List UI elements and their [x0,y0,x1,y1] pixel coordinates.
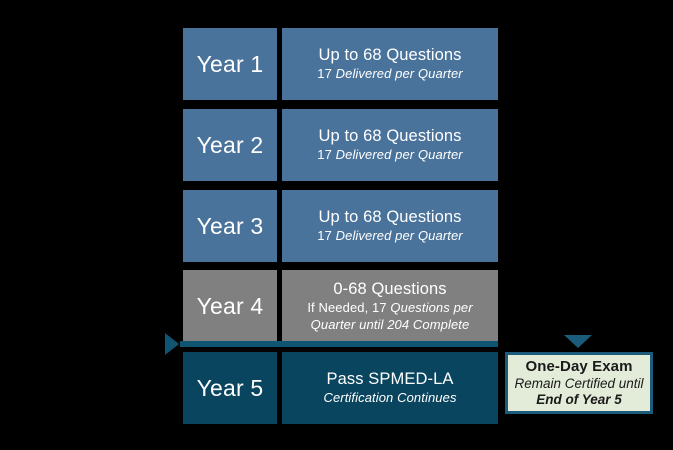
year-detail-sub-line2-4: Quarter until 204 Complete [311,317,470,333]
year-detail-sub-2: 17 Delivered per Quarter [317,147,462,163]
year-detail-sub-3: 17 Delivered per Quarter [317,228,462,244]
year-detail-5: Pass SPMED-LA Certification Continues [282,352,498,424]
year-detail-3: Up to 68 Questions 17 Delivered per Quar… [282,190,498,262]
year-detail-1: Up to 68 Questions 17 Delivered per Quar… [282,28,498,100]
year-detail-sub-italic-4: Questions per [390,300,472,315]
year-label-1: Year 1 [183,28,277,100]
year-detail-sub-plain-3: 17 [317,228,335,243]
year-detail-sub-plain-2: 17 [317,147,335,162]
year-label-2: Year 2 [183,109,277,181]
year-detail-4: 0-68 Questions If Needed, 17 Questions p… [282,270,498,342]
year-detail-sub-plain-1: 17 [317,66,335,81]
timeline-connector-line [180,341,498,347]
year-detail-sub-italic-1: Delivered per Quarter [336,66,463,81]
year-detail-title-1: Up to 68 Questions [318,46,461,65]
chevron-down-icon [564,335,592,348]
year-detail-sub-italic-2: Delivered per Quarter [336,147,463,162]
one-day-exam-callout[interactable]: One-Day Exam Remain Certified until End … [505,352,653,414]
timeline-arrow-icon [165,333,179,355]
year-detail-sub-4: If Needed, 17 Questions per [307,300,472,316]
year-detail-sub-italic-3: Delivered per Quarter [336,228,463,243]
year-detail-title-4: 0-68 Questions [333,280,446,299]
year-label-3: Year 3 [183,190,277,262]
year-detail-2: Up to 68 Questions 17 Delivered per Quar… [282,109,498,181]
year-detail-sub-1: 17 Delivered per Quarter [317,66,462,82]
year-label-5: Year 5 [183,352,277,424]
year-detail-sub-5: Certification Continues [323,390,456,406]
year-detail-title-2: Up to 68 Questions [318,127,461,146]
one-day-exam-line3: End of Year 5 [536,392,622,408]
one-day-exam-title: One-Day Exam [525,358,632,375]
diagram-canvas: Year 1 Up to 68 Questions 17 Delivered p… [0,0,673,450]
year-detail-sub-plain-4: If Needed, 17 [307,300,390,315]
year-detail-title-3: Up to 68 Questions [318,208,461,227]
year-label-4: Year 4 [183,270,277,342]
year-detail-sub-italic-5: Certification Continues [323,390,456,405]
one-day-exam-line2: Remain Certified until [514,376,643,392]
year-detail-title-5: Pass SPMED-LA [327,370,454,389]
